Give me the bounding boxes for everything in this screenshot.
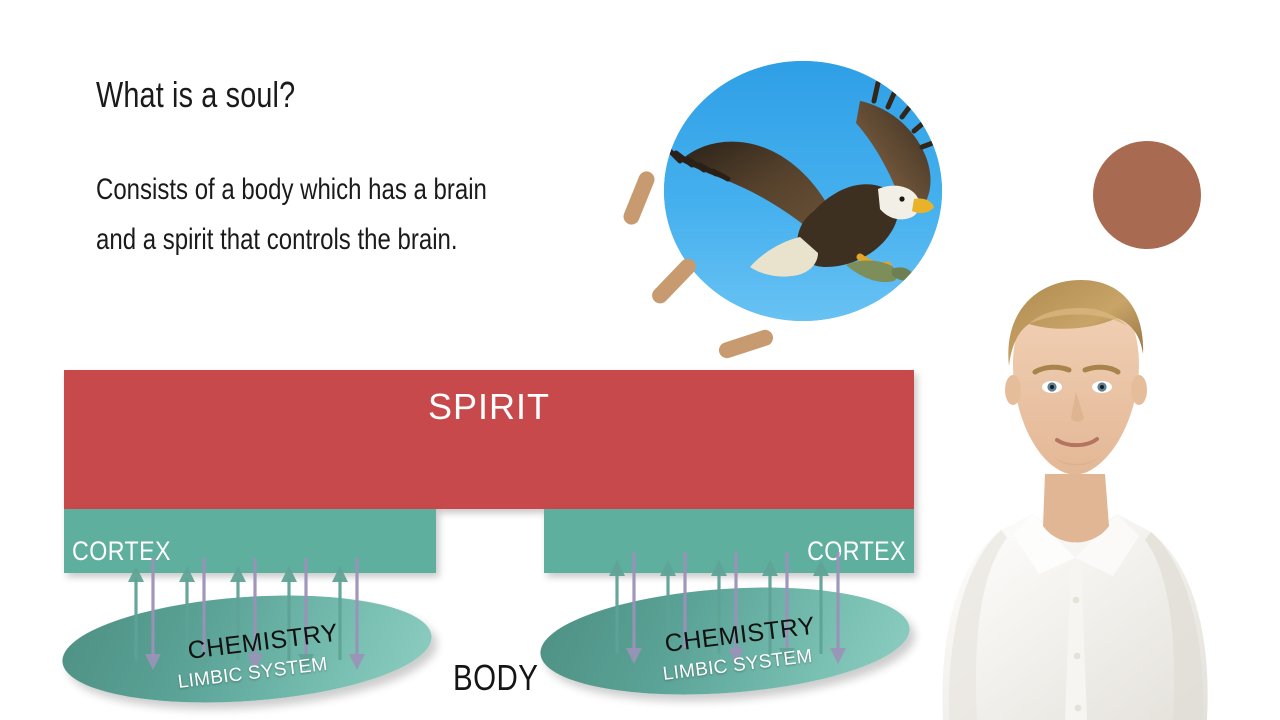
dash-decoration-3 [717,328,775,361]
body-label: BODY [453,657,538,699]
eagle-photo [664,61,942,321]
spirit-block: SPIRIT [64,370,914,509]
cortex-label-right: CORTEX [807,536,906,567]
slide-canvas: What is a soul? Consists of a body which… [0,0,1280,720]
presenter-photo [905,268,1245,720]
spirit-label: SPIRIT [64,386,914,428]
body-paragraph: Consists of a body which has a brain and… [96,165,487,265]
page-title: What is a soul? [96,74,295,116]
cortex-block-right: CORTEX [544,509,914,573]
dash-decoration-1 [621,169,657,227]
cortex-label-left: CORTEX [72,536,171,567]
eagle-illustration [664,61,942,321]
brown-circle-decoration [1093,141,1201,249]
cortex-block-left: CORTEX [64,509,436,573]
